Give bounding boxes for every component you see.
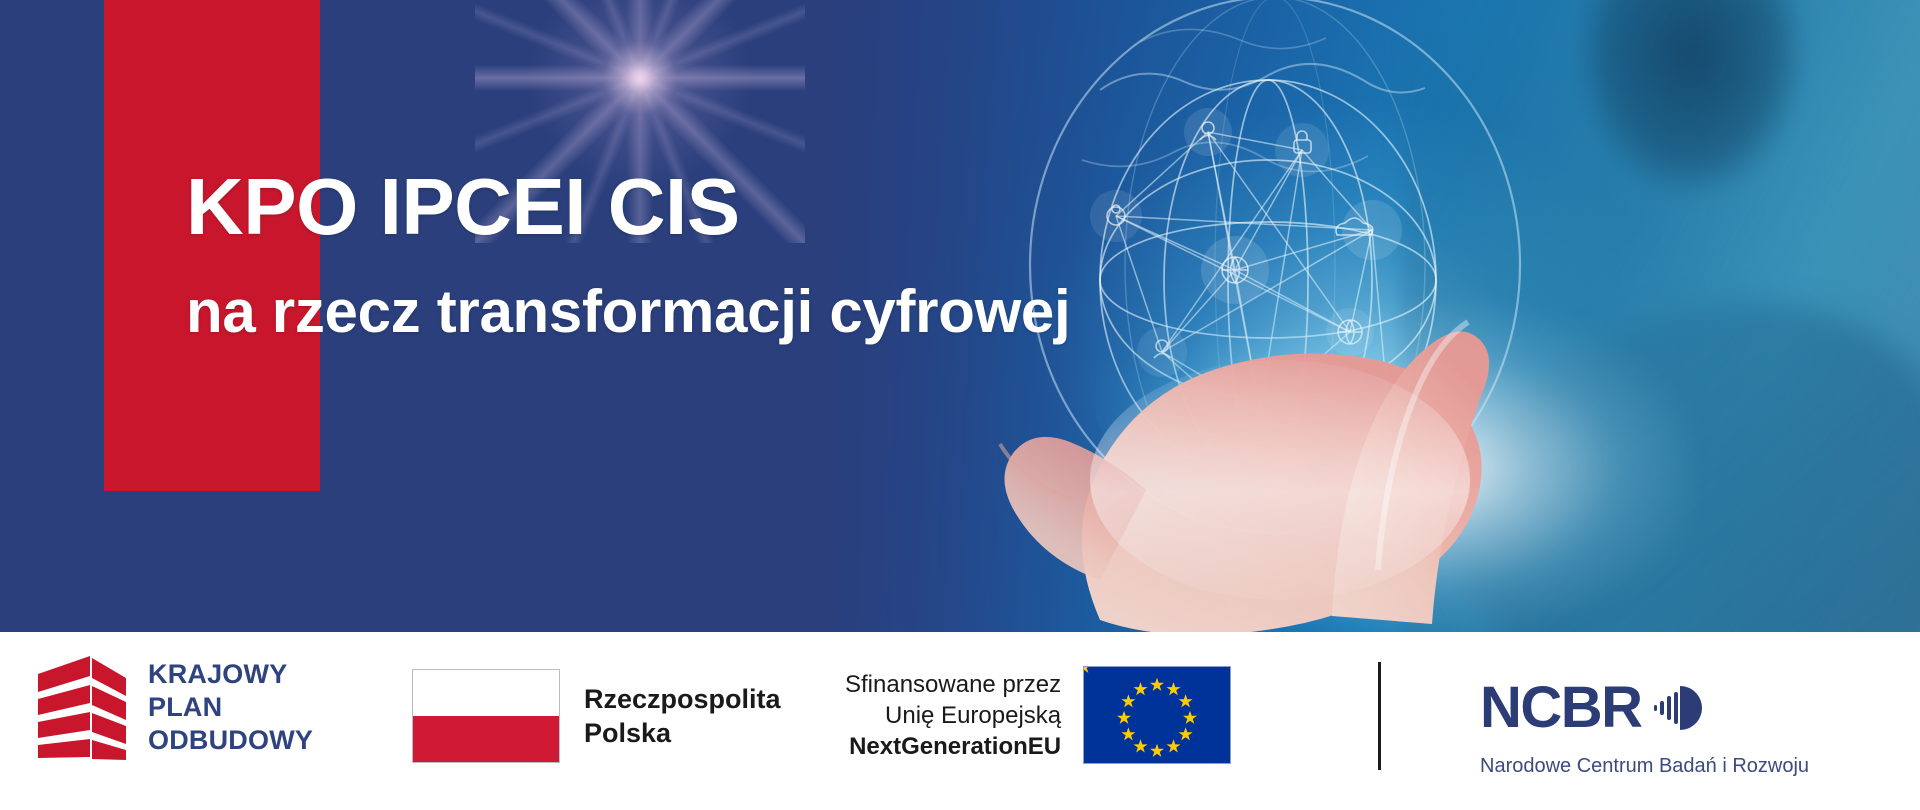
eu-line-2: Unię Europejską [845,700,1061,731]
eu-line-1: Sfinansowane przez [845,669,1061,700]
logo-ncbr: NCBR Narodowe Centrum Badań i Rozwoju [1480,678,1809,778]
ncbr-subtitle: Narodowe Centrum Badań i Rozwoju [1480,754,1809,778]
ncbr-wordmark: NCBR [1480,678,1642,738]
banner-title: KPO IPCEI CIS [186,160,1070,254]
footer-logo-strip: KRAJOWY PLAN ODBUDOWY Rzeczpospolita Pol… [0,632,1920,810]
kpo-line-1: KRAJOWY [148,658,313,691]
banner-headline: KPO IPCEI CIS na rzecz transformacji cyf… [186,160,1070,348]
kpo-line-2: PLAN [148,691,313,724]
eu-line-3: NextGenerationEU [845,731,1061,762]
banner-subtitle: na rzecz transformacji cyfrowej [186,276,1070,348]
rp-line-2: Polska [584,716,781,750]
rp-line-1: Rzeczpospolita [584,682,781,716]
logo-krajowy-plan-odbudowy: KRAJOWY PLAN ODBUDOWY [30,652,313,762]
kpo-wordmark: KRAJOWY PLAN ODBUDOWY [148,658,313,757]
eu-funding-text: Sfinansowane przez Unię Europejską NextG… [845,669,1061,762]
polish-flag-icon [412,669,560,763]
logo-row: KRAJOWY PLAN ODBUDOWY Rzeczpospolita Pol… [0,632,1920,810]
rp-wordmark: Rzeczpospolita Polska [584,682,781,750]
eu-flag-icon [1083,666,1231,764]
ncbr-top-row: NCBR [1480,678,1809,738]
logo-rzeczpospolita-polska: Rzeczpospolita Polska [412,669,781,763]
kpo-line-3: ODBUDOWY [148,724,313,757]
page-root: KPO IPCEI CIS na rzecz transformacji cyf… [0,0,1920,810]
eu-stars [1084,667,1230,763]
hero-banner: KPO IPCEI CIS na rzecz transformacji cyf… [0,0,1920,632]
kpo-building-icon [30,652,132,762]
logo-european-union: Sfinansowane przez Unię Europejską NextG… [845,666,1231,764]
ncbr-striped-dome-icon [1652,680,1708,736]
logo-divider [1378,662,1381,770]
